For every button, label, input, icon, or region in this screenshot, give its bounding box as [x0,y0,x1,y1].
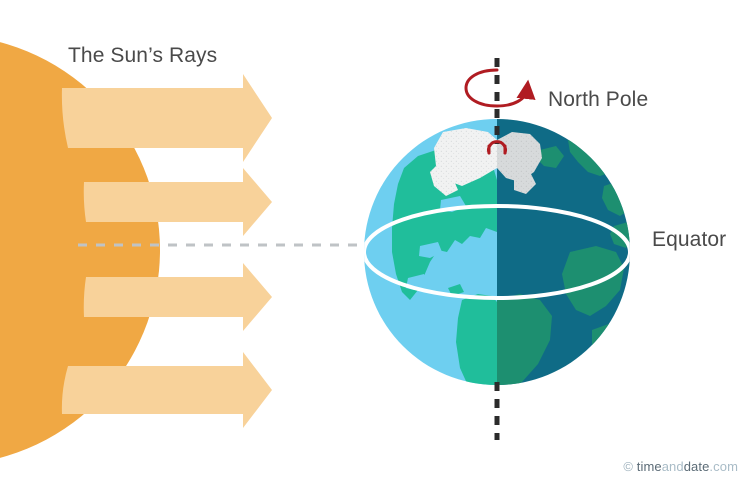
north-pole-label: North Pole [548,88,648,112]
equator-label: Equator [652,228,726,252]
watermark-dotcom: .com [709,459,738,474]
illustration-canvas: The Sun’s Rays North Pole Equator © time… [0,0,750,500]
watermark-date: date [684,459,710,474]
watermark-timeanddate: © timeanddate.com [623,459,738,474]
equinox-diagram-svg [0,0,750,500]
watermark-and: and [662,459,684,474]
globe-group [360,115,637,390]
sun-rays-label: The Sun’s Rays [68,44,217,68]
copyright-symbol: © [623,459,636,474]
watermark-time: time [637,459,662,474]
